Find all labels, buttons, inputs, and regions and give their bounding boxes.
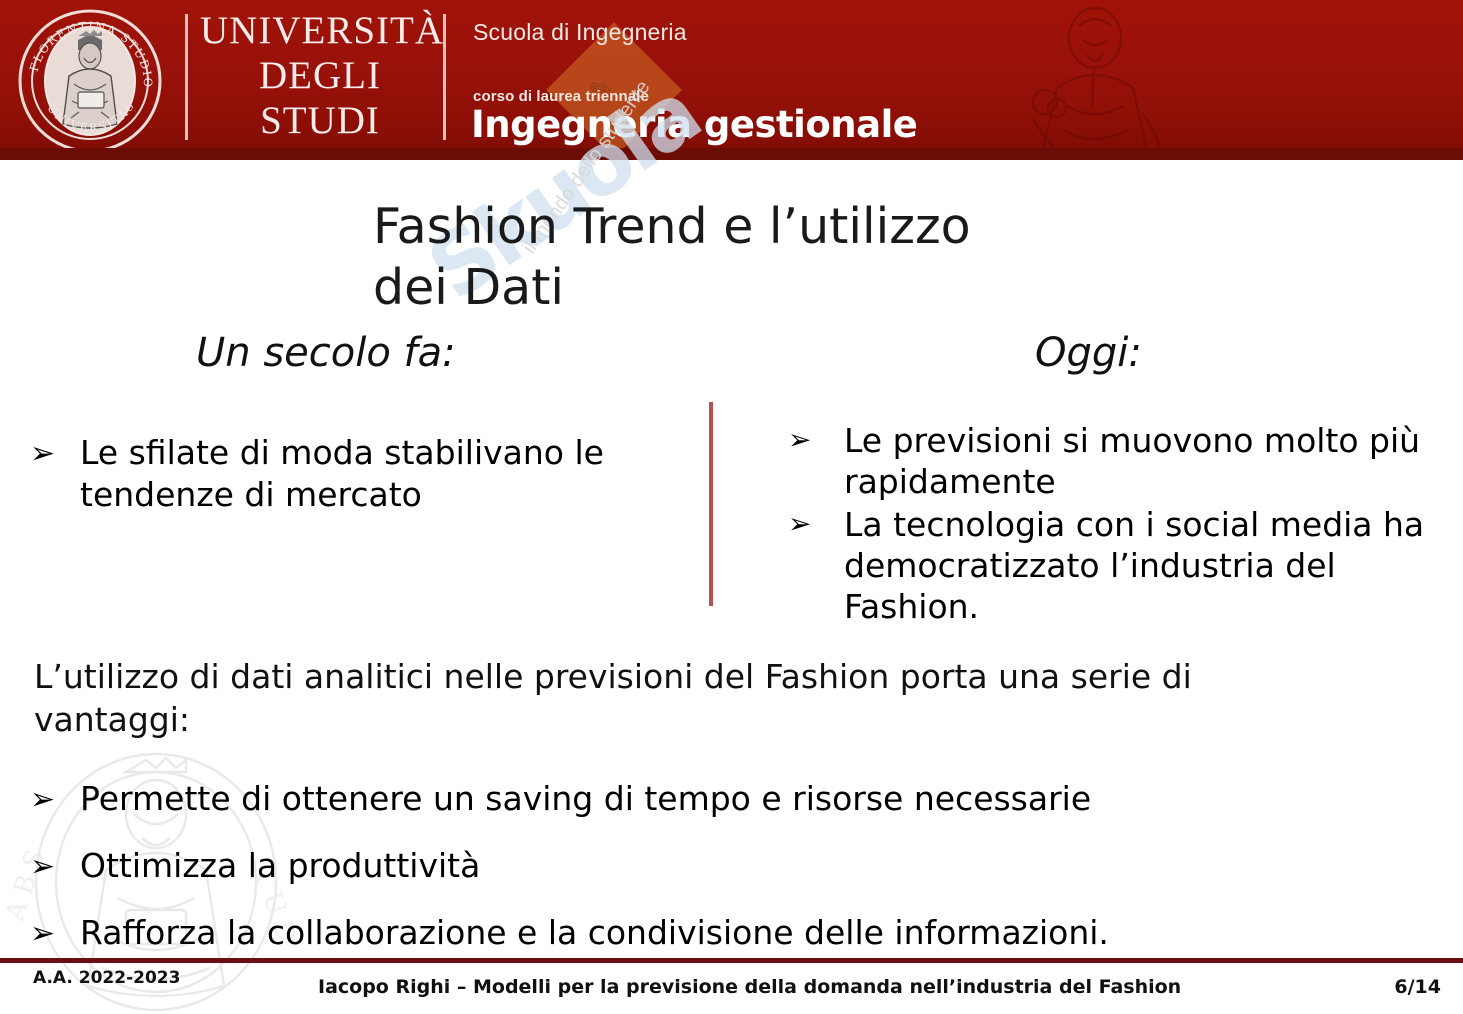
- arrow-bullet-icon: ➢: [30, 846, 80, 882]
- list-item: ➢ Ottimizza la produttività: [30, 846, 1370, 886]
- list-item: ➢ Permette di ottenere un saving di temp…: [30, 779, 1370, 819]
- header-degree-name: Ingegneria gestionale: [471, 103, 917, 146]
- footer-page-number: 6/14: [1394, 976, 1441, 998]
- benefits-list: ➢ Permette di ottenere un saving di temp…: [30, 779, 1370, 980]
- university-line-2: DEGLI STUDI: [200, 53, 440, 143]
- column-right: ➢ Le previsioni si muovono molto più rap…: [788, 420, 1428, 627]
- subheading-right: Oggi:: [1035, 330, 1142, 376]
- arrow-bullet-icon: ➢: [788, 504, 844, 538]
- footer-title: Iacopo Righi – Modelli per la previsione…: [318, 976, 1198, 998]
- list-item-label: Le previsioni si muovono molto più rapid…: [844, 420, 1428, 502]
- header-banner: FLORENTINA STUDIORUM UNIVERSITAS UNIVERS…: [0, 0, 1463, 160]
- column-left: ➢ Le sfilate di moda stabilivano le tend…: [30, 432, 680, 516]
- list-item: ➢ Le sfilate di moda stabilivano le tend…: [30, 432, 680, 516]
- university-seal-icon: FLORENTINA STUDIORUM UNIVERSITAS: [14, 6, 166, 156]
- list-item: ➢ La tecnologia con i social media ha de…: [788, 504, 1428, 627]
- header-school-label: Scuola di Ingegneria: [473, 19, 687, 46]
- arrow-bullet-icon: ➢: [788, 420, 844, 454]
- banner-figure-watermark-icon: [983, 0, 1213, 160]
- arrow-bullet-icon: ➢: [30, 913, 80, 949]
- list-item-label: Ottimizza la produttività: [80, 846, 1370, 886]
- footer-divider: [0, 958, 1463, 963]
- header-divider-left: [185, 14, 188, 140]
- arrow-bullet-icon: ➢: [30, 432, 80, 469]
- page-title: Fashion Trend e l’utilizzo dei Dati: [373, 196, 1133, 318]
- list-item-label: La tecnologia con i social media ha demo…: [844, 504, 1428, 627]
- list-item: ➢ Rafforza la collaborazione e la condiv…: [30, 913, 1370, 953]
- university-line-1: UNIVERSITÀ: [200, 8, 440, 53]
- list-item-label: Permette di ottenere un saving di tempo …: [80, 779, 1370, 819]
- list-item-label: Le sfilate di moda stabilivano le tenden…: [80, 432, 680, 516]
- header-bottom-band: [0, 148, 1463, 160]
- column-divider: [709, 402, 713, 606]
- list-item-label: Rafforza la collaborazione e la condivis…: [80, 913, 1370, 953]
- university-wordmark: UNIVERSITÀ DEGLI STUDI FIRENZE: [200, 8, 440, 160]
- subheading-left: Un secolo fa:: [196, 330, 456, 376]
- body-paragraph: L’utilizzo di dati analitici nelle previ…: [34, 655, 1274, 741]
- footer-academic-year: A.A. 2022-2023: [33, 967, 183, 990]
- list-item: ➢ Le previsioni si muovono molto più rap…: [788, 420, 1428, 502]
- arrow-bullet-icon: ➢: [30, 779, 80, 815]
